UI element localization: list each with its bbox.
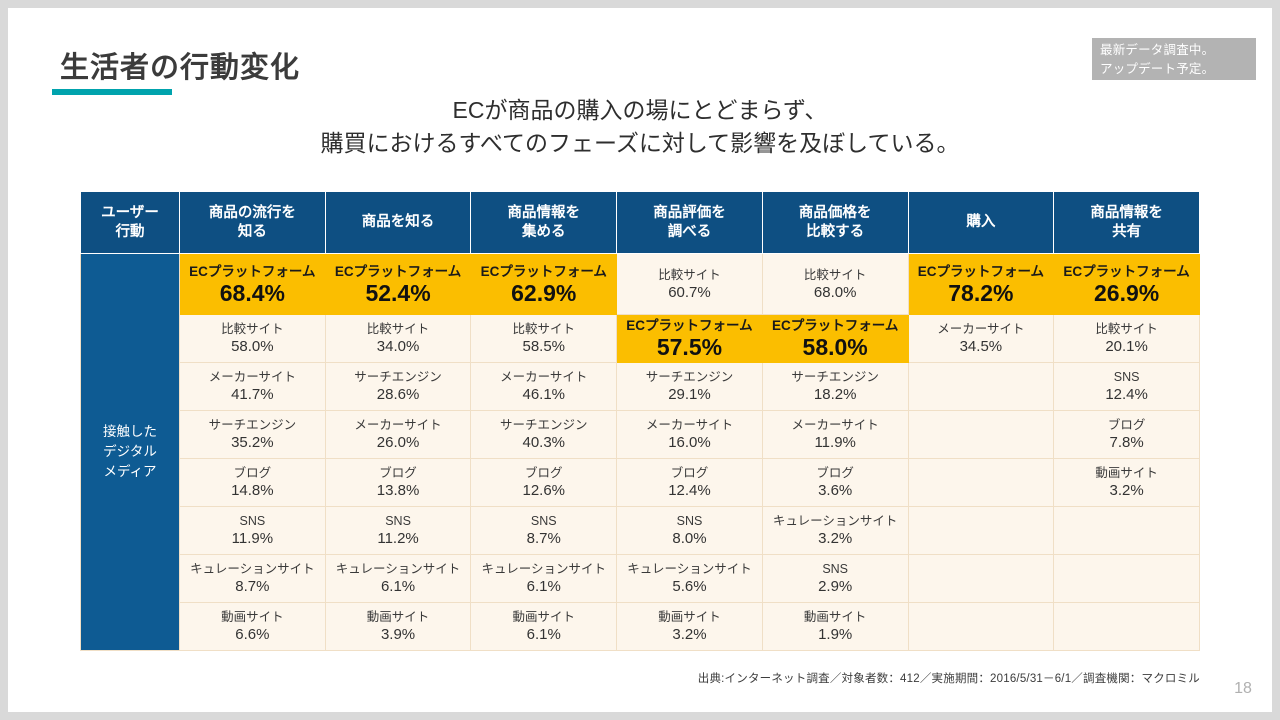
cell-percentage-value: 52.4% bbox=[328, 280, 469, 306]
column-header-1: 商品を知る bbox=[325, 192, 471, 254]
cell-percentage-value: 7.8% bbox=[1056, 433, 1197, 452]
cell-media-label: サーチエンジン bbox=[619, 369, 760, 385]
table-cell-empty bbox=[908, 555, 1054, 603]
cell-percentage-value: 68.0% bbox=[765, 283, 906, 302]
page-title: 生活者の行動変化 bbox=[60, 44, 300, 86]
cell-percentage-value: 46.1% bbox=[473, 385, 614, 404]
table-cell: メーカーサイト26.0% bbox=[325, 411, 471, 459]
table-cell: 比較サイト20.1% bbox=[1054, 315, 1200, 363]
cell-media-label: 動画サイト bbox=[1056, 465, 1197, 481]
table-cell: 比較サイト58.5% bbox=[471, 315, 617, 363]
table-cell-empty bbox=[908, 411, 1054, 459]
cell-percentage-value: 20.1% bbox=[1056, 337, 1197, 356]
cell-media-label: 動画サイト bbox=[328, 609, 469, 625]
corner-header-line-1: ユーザー bbox=[101, 205, 159, 221]
cell-percentage-value: 41.7% bbox=[182, 385, 323, 404]
column-header-0-line-2: 知る bbox=[238, 224, 267, 240]
cell-percentage-value: 5.6% bbox=[619, 577, 760, 596]
cell-percentage-value: 11.9% bbox=[182, 529, 323, 548]
cell-media-label: メーカーサイト bbox=[182, 369, 323, 385]
cell-media-label: ECプラットフォーム bbox=[765, 317, 906, 334]
table-cell: 動画サイト1.9% bbox=[762, 603, 908, 651]
cell-media-label: メーカーサイト bbox=[619, 417, 760, 433]
column-header-1-line-1: 商品を知る bbox=[362, 214, 435, 230]
table-cell: SNS12.4% bbox=[1054, 363, 1200, 411]
table-cell: SNS11.9% bbox=[180, 507, 326, 555]
cell-percentage-value: 16.0% bbox=[619, 433, 760, 452]
table-cell: ECプラットフォーム26.9% bbox=[1054, 254, 1200, 315]
cell-media-label: 比較サイト bbox=[619, 267, 760, 283]
table-cell: キュレーションサイト5.6% bbox=[617, 555, 763, 603]
column-header-2-line-2: 集める bbox=[522, 224, 566, 240]
cell-media-label: 動画サイト bbox=[765, 609, 906, 625]
table-cell: ECプラットフォーム78.2% bbox=[908, 254, 1054, 315]
table-cell-empty bbox=[1054, 603, 1200, 651]
cell-media-label: サーチエンジン bbox=[182, 417, 323, 433]
table-row: 動画サイト6.6%動画サイト3.9%動画サイト6.1%動画サイト3.2%動画サイ… bbox=[81, 603, 1200, 651]
table-row: キュレーションサイト8.7%キュレーションサイト6.1%キュレーションサイト6.… bbox=[81, 555, 1200, 603]
cell-media-label: ECプラットフォーム bbox=[619, 317, 760, 334]
cell-percentage-value: 11.9% bbox=[765, 433, 906, 452]
table-cell: ブログ7.8% bbox=[1054, 411, 1200, 459]
column-header-6-line-2: 共有 bbox=[1112, 224, 1141, 240]
table-cell: ブログ14.8% bbox=[180, 459, 326, 507]
cell-percentage-value: 34.5% bbox=[911, 337, 1052, 356]
column-header-3: 商品評価を 調べる bbox=[617, 192, 763, 254]
cell-media-label: SNS bbox=[765, 561, 906, 577]
table-body: 接触したデジタルメディアECプラットフォーム68.4%ECプラットフォーム52.… bbox=[81, 254, 1200, 651]
table-cell: キュレーションサイト6.1% bbox=[471, 555, 617, 603]
table-cell: サーチエンジン18.2% bbox=[762, 363, 908, 411]
table-cell: 比較サイト60.7% bbox=[617, 254, 763, 315]
cell-media-label: 動画サイト bbox=[182, 609, 323, 625]
cell-percentage-value: 68.4% bbox=[182, 280, 323, 306]
column-header-0-line-1: 商品の流行を bbox=[209, 205, 296, 221]
column-header-3-line-2: 調べる bbox=[668, 224, 712, 240]
row-group-label: 接触したデジタルメディア bbox=[81, 254, 180, 651]
subtitle-line-2: 購買におけるすべてのフェーズに対して影響を及ぼしている。 bbox=[8, 127, 1272, 160]
cell-media-label: SNS bbox=[328, 513, 469, 529]
cell-media-label: 比較サイト bbox=[182, 321, 323, 337]
table-cell-empty bbox=[1054, 507, 1200, 555]
cell-percentage-value: 12.6% bbox=[473, 481, 614, 500]
table-head: ユーザー 行動 商品の流行を 知る 商品を知る 商品情報を 集める bbox=[81, 192, 1200, 254]
table-row: 接触したデジタルメディアECプラットフォーム68.4%ECプラットフォーム52.… bbox=[81, 254, 1200, 315]
cell-percentage-value: 14.8% bbox=[182, 481, 323, 500]
table-cell: SNS2.9% bbox=[762, 555, 908, 603]
table-cell: ECプラットフォーム68.4% bbox=[180, 254, 326, 315]
cell-media-label: サーチエンジン bbox=[765, 369, 906, 385]
cell-media-label: キュレーションサイト bbox=[328, 561, 469, 577]
table-cell: 動画サイト3.2% bbox=[617, 603, 763, 651]
cell-percentage-value: 6.1% bbox=[473, 577, 614, 596]
row-group-label-line-0: 接触した bbox=[81, 422, 179, 442]
cell-media-label: 比較サイト bbox=[765, 267, 906, 283]
table-cell: 動画サイト6.1% bbox=[471, 603, 617, 651]
table-cell: メーカーサイト46.1% bbox=[471, 363, 617, 411]
table-corner-header: ユーザー 行動 bbox=[81, 192, 180, 254]
table-cell: 動画サイト3.9% bbox=[325, 603, 471, 651]
table-cell: ECプラットフォーム58.0% bbox=[762, 315, 908, 363]
table-cell: 比較サイト58.0% bbox=[180, 315, 326, 363]
cell-percentage-value: 6.1% bbox=[473, 625, 614, 644]
cell-media-label: メーカーサイト bbox=[473, 369, 614, 385]
cell-media-label: 動画サイト bbox=[473, 609, 614, 625]
cell-percentage-value: 58.5% bbox=[473, 337, 614, 356]
cell-media-label: ブログ bbox=[473, 465, 614, 481]
table-cell-empty bbox=[908, 603, 1054, 651]
cell-percentage-value: 2.9% bbox=[765, 577, 906, 596]
table-row: メーカーサイト41.7%サーチエンジン28.6%メーカーサイト46.1%サーチエ… bbox=[81, 363, 1200, 411]
table-cell: キュレーションサイト8.7% bbox=[180, 555, 326, 603]
table-cell: キュレーションサイト6.1% bbox=[325, 555, 471, 603]
cell-media-label: ECプラットフォーム bbox=[911, 263, 1052, 280]
cell-media-label: ブログ bbox=[619, 465, 760, 481]
table-row: SNS11.9%SNS11.2%SNS8.7%SNS8.0%キュレーションサイト… bbox=[81, 507, 1200, 555]
cell-percentage-value: 58.0% bbox=[765, 334, 906, 360]
cell-media-label: SNS bbox=[182, 513, 323, 529]
cell-percentage-value: 18.2% bbox=[765, 385, 906, 404]
cell-percentage-value: 35.2% bbox=[182, 433, 323, 452]
cell-percentage-value: 60.7% bbox=[619, 283, 760, 302]
cell-media-label: 比較サイト bbox=[1056, 321, 1197, 337]
cell-media-label: ブログ bbox=[765, 465, 906, 481]
table-cell: ECプラットフォーム57.5% bbox=[617, 315, 763, 363]
cell-media-label: キュレーションサイト bbox=[619, 561, 760, 577]
data-table-container: ユーザー 行動 商品の流行を 知る 商品を知る 商品情報を 集める bbox=[80, 191, 1200, 651]
cell-media-label: キュレーションサイト bbox=[473, 561, 614, 577]
cell-percentage-value: 28.6% bbox=[328, 385, 469, 404]
table-cell: サーチエンジン40.3% bbox=[471, 411, 617, 459]
cell-percentage-value: 78.2% bbox=[911, 280, 1052, 306]
status-badge-line-1: 最新データ調査中。 bbox=[1100, 41, 1256, 60]
column-header-2-line-1: 商品情報を bbox=[508, 205, 581, 221]
table-cell: ブログ13.8% bbox=[325, 459, 471, 507]
table-row: 比較サイト58.0%比較サイト34.0%比較サイト58.5%ECプラットフォーム… bbox=[81, 315, 1200, 363]
column-header-4-line-1: 商品価格を bbox=[799, 205, 872, 221]
cell-media-label: 動画サイト bbox=[619, 609, 760, 625]
cell-media-label: サーチエンジン bbox=[473, 417, 614, 433]
cell-media-label: SNS bbox=[619, 513, 760, 529]
table-cell: ブログ12.6% bbox=[471, 459, 617, 507]
table-cell: ECプラットフォーム62.9% bbox=[471, 254, 617, 315]
cell-media-label: サーチエンジン bbox=[328, 369, 469, 385]
slide-canvas: 生活者の行動変化 最新データ調査中。 アップデート予定。 ECが商品の購入の場に… bbox=[8, 8, 1272, 712]
table-cell: ブログ3.6% bbox=[762, 459, 908, 507]
table-cell: メーカーサイト11.9% bbox=[762, 411, 908, 459]
column-header-2: 商品情報を 集める bbox=[471, 192, 617, 254]
column-header-6: 商品情報を 共有 bbox=[1054, 192, 1200, 254]
cell-percentage-value: 6.6% bbox=[182, 625, 323, 644]
cell-percentage-value: 1.9% bbox=[765, 625, 906, 644]
table-cell: キュレーションサイト3.2% bbox=[762, 507, 908, 555]
cell-media-label: ブログ bbox=[182, 465, 323, 481]
table-row: ブログ14.8%ブログ13.8%ブログ12.6%ブログ12.4%ブログ3.6%動… bbox=[81, 459, 1200, 507]
cell-media-label: ECプラットフォーム bbox=[473, 263, 614, 280]
cell-percentage-value: 26.0% bbox=[328, 433, 469, 452]
table-cell: SNS11.2% bbox=[325, 507, 471, 555]
cell-percentage-value: 8.7% bbox=[473, 529, 614, 548]
cell-percentage-value: 26.9% bbox=[1056, 280, 1197, 306]
cell-media-label: ブログ bbox=[1056, 417, 1197, 433]
table-cell: ECプラットフォーム52.4% bbox=[325, 254, 471, 315]
cell-percentage-value: 11.2% bbox=[328, 529, 469, 548]
cell-media-label: ECプラットフォーム bbox=[1056, 263, 1197, 280]
cell-percentage-value: 29.1% bbox=[619, 385, 760, 404]
column-header-5: 購入 bbox=[908, 192, 1054, 254]
row-group-label-line-1: デジタル bbox=[81, 442, 179, 462]
cell-percentage-value: 12.4% bbox=[1056, 385, 1197, 404]
slide-subtitle: ECが商品の購入の場にとどまらず、 購買におけるすべてのフェーズに対して影響を及… bbox=[8, 94, 1272, 160]
cell-media-label: メーカーサイト bbox=[328, 417, 469, 433]
table-cell-empty bbox=[1054, 555, 1200, 603]
column-header-6-line-1: 商品情報を bbox=[1090, 205, 1163, 221]
subtitle-line-1: ECが商品の購入の場にとどまらず、 bbox=[8, 94, 1272, 127]
table-cell: 比較サイト68.0% bbox=[762, 254, 908, 315]
table-cell: メーカーサイト34.5% bbox=[908, 315, 1054, 363]
column-header-3-line-1: 商品評価を bbox=[653, 205, 726, 221]
cell-media-label: 比較サイト bbox=[473, 321, 614, 337]
table-cell: サーチエンジン35.2% bbox=[180, 411, 326, 459]
cell-percentage-value: 3.6% bbox=[765, 481, 906, 500]
cell-media-label: SNS bbox=[473, 513, 614, 529]
cell-percentage-value: 58.0% bbox=[182, 337, 323, 356]
page-number: 18 bbox=[1223, 680, 1263, 698]
table-row: サーチエンジン35.2%メーカーサイト26.0%サーチエンジン40.3%メーカー… bbox=[81, 411, 1200, 459]
table-cell: メーカーサイト41.7% bbox=[180, 363, 326, 411]
cell-percentage-value: 8.0% bbox=[619, 529, 760, 548]
cell-percentage-value: 8.7% bbox=[182, 577, 323, 596]
table-cell-empty bbox=[908, 459, 1054, 507]
table-cell: ブログ12.4% bbox=[617, 459, 763, 507]
table-cell: 動画サイト6.6% bbox=[180, 603, 326, 651]
column-header-0: 商品の流行を 知る bbox=[180, 192, 326, 254]
table-cell: サーチエンジン29.1% bbox=[617, 363, 763, 411]
cell-media-label: メーカーサイト bbox=[765, 417, 906, 433]
table-cell: 動画サイト3.2% bbox=[1054, 459, 1200, 507]
cell-media-label: キュレーションサイト bbox=[182, 561, 323, 577]
cell-percentage-value: 3.2% bbox=[765, 529, 906, 548]
status-badge-line-2: アップデート予定。 bbox=[1100, 60, 1256, 79]
cell-percentage-value: 3.2% bbox=[619, 625, 760, 644]
column-header-4: 商品価格を 比較する bbox=[762, 192, 908, 254]
cell-percentage-value: 34.0% bbox=[328, 337, 469, 356]
table-cell: 比較サイト34.0% bbox=[325, 315, 471, 363]
cell-percentage-value: 57.5% bbox=[619, 334, 760, 360]
cell-media-label: ブログ bbox=[328, 465, 469, 481]
cell-media-label: 比較サイト bbox=[328, 321, 469, 337]
table-cell-empty bbox=[908, 363, 1054, 411]
corner-header-line-2: 行動 bbox=[116, 224, 145, 240]
table-header-row: ユーザー 行動 商品の流行を 知る 商品を知る 商品情報を 集める bbox=[81, 192, 1200, 254]
column-header-5-line-1: 購入 bbox=[966, 214, 995, 230]
table-cell: サーチエンジン28.6% bbox=[325, 363, 471, 411]
status-badge: 最新データ調査中。 アップデート予定。 bbox=[1092, 38, 1256, 80]
cell-percentage-value: 12.4% bbox=[619, 481, 760, 500]
row-group-label-line-2: メディア bbox=[81, 462, 179, 482]
media-touchpoint-table: ユーザー 行動 商品の流行を 知る 商品を知る 商品情報を 集める bbox=[80, 191, 1200, 651]
table-cell-empty bbox=[908, 507, 1054, 555]
cell-percentage-value: 40.3% bbox=[473, 433, 614, 452]
cell-percentage-value: 3.9% bbox=[328, 625, 469, 644]
cell-media-label: キュレーションサイト bbox=[765, 513, 906, 529]
column-header-4-line-2: 比較する bbox=[806, 224, 864, 240]
cell-percentage-value: 6.1% bbox=[328, 577, 469, 596]
cell-percentage-value: 13.8% bbox=[328, 481, 469, 500]
table-cell: メーカーサイト16.0% bbox=[617, 411, 763, 459]
cell-percentage-value: 62.9% bbox=[473, 280, 614, 306]
cell-media-label: メーカーサイト bbox=[911, 321, 1052, 337]
cell-media-label: SNS bbox=[1056, 369, 1197, 385]
cell-media-label: ECプラットフォーム bbox=[328, 263, 469, 280]
cell-percentage-value: 3.2% bbox=[1056, 481, 1197, 500]
table-cell: SNS8.0% bbox=[617, 507, 763, 555]
cell-media-label: ECプラットフォーム bbox=[182, 263, 323, 280]
source-note: 出典:インターネット調査／対象者数：412／実施期間：2016/5/31－6/1… bbox=[8, 670, 1200, 686]
table-cell: SNS8.7% bbox=[471, 507, 617, 555]
